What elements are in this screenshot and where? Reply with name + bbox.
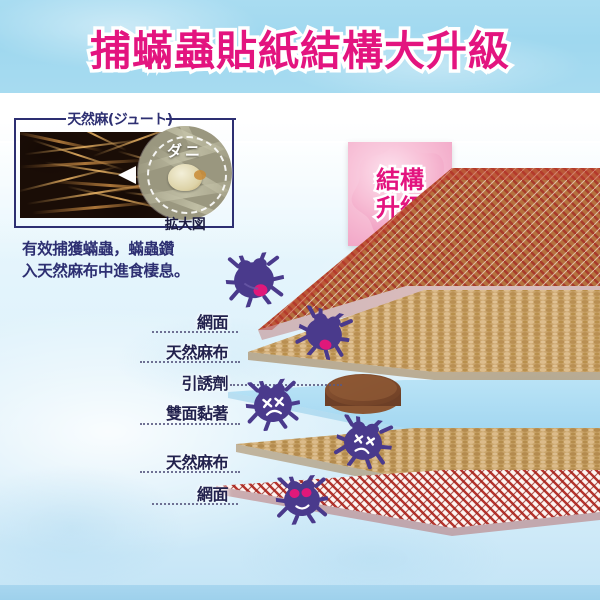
layer-label-adhesive: 雙面黏著 xyxy=(142,400,228,424)
upgrade-badge: 結構 升級 xyxy=(348,142,452,246)
badge-line-1: 結構 xyxy=(376,167,424,194)
description-line-1: 有效捕獲蟎蟲，蟎蟲鑽 xyxy=(22,238,237,260)
jute-inset-panel: 天然麻(ジュート) xyxy=(14,110,236,230)
mite-illustration-3 xyxy=(244,377,303,432)
mite-label: ダニ xyxy=(138,140,232,161)
mite-illustration-1 xyxy=(223,250,288,310)
layer-label-mesh-top: 網面 xyxy=(160,309,228,333)
leader-line-jute-bottom xyxy=(140,471,240,473)
layer-label-attractant: 引誘劑 xyxy=(160,370,228,394)
footer-band xyxy=(0,585,600,600)
magnify-pointer xyxy=(118,166,136,184)
leader-line-mesh-top xyxy=(152,331,238,333)
magnified-caption: 拡大図 xyxy=(138,214,232,234)
layer-label-jute-top: 天然麻布 xyxy=(142,339,228,363)
layer-label-mesh-bottom: 網面 xyxy=(160,481,228,505)
layer-label-jute-bottom: 天然麻布 xyxy=(142,449,228,473)
description-text: 有效捕獲蟎蟲，蟎蟲鑽 入天然麻布中進食棲息。 xyxy=(22,238,237,282)
leader-line-jute-top xyxy=(140,361,240,363)
description-line-2: 入天然麻布中進食棲息。 xyxy=(22,260,237,282)
leader-line-adhesive xyxy=(140,423,240,425)
page-title-text: 捕蟎蟲貼紙結構大升級 xyxy=(90,17,510,77)
magnified-view-circle: ダニ xyxy=(138,126,232,220)
inset-frame-top-left xyxy=(14,118,66,120)
badge-line-2: 升級 xyxy=(376,195,424,222)
mite-illustration-5 xyxy=(274,474,329,526)
leader-line-mesh-bottom xyxy=(152,503,238,505)
page-title: 捕蟎蟲貼紙結構大升級 xyxy=(0,18,600,76)
mite-illustration-4 xyxy=(332,414,396,473)
poster-canvas: 捕蟎蟲貼紙結構大升級 天然麻(ジュート) xyxy=(0,0,600,600)
